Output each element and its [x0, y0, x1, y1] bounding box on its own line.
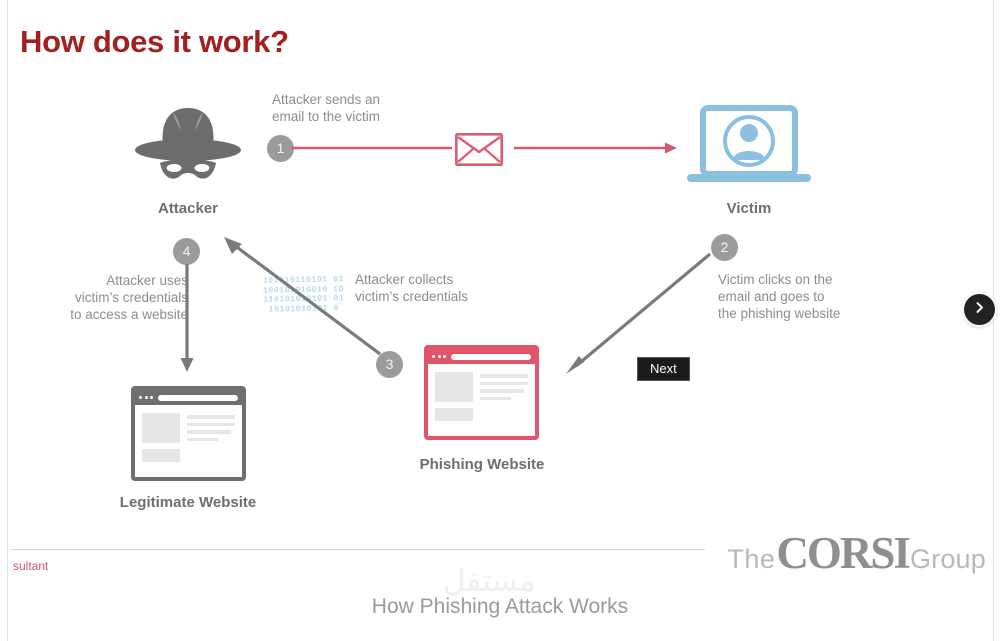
phishing-website-label: Phishing Website: [392, 456, 572, 473]
slide-caption: How Phishing Attack Works: [0, 595, 1000, 619]
step-1-text: Attacker sends an email to the victim: [272, 91, 492, 125]
next-button[interactable]: Next: [637, 357, 690, 381]
step-4-arrow: [178, 264, 196, 374]
logo-corsi: CORSI: [776, 527, 909, 579]
page-edge-left: [7, 0, 8, 641]
page-title: How does it work?: [20, 24, 289, 60]
legitimate-website-label: Legitimate Website: [98, 494, 278, 511]
next-slide-button[interactable]: [964, 294, 995, 325]
attacker-hat-mask-icon: [133, 100, 243, 192]
slide-canvas: How does it work? Attacker Victim: [0, 0, 1000, 641]
corsi-group-logo: The CORSI Group: [727, 527, 986, 571]
mostaql-watermark: مستقل: [443, 563, 536, 599]
step-1-badge: 1: [267, 135, 294, 162]
step-2-text: Victim clicks on the email and goes to t…: [718, 271, 933, 322]
step-3-arrow: [218, 232, 388, 360]
attacker-label: Attacker: [108, 200, 268, 217]
envelope-icon: [455, 133, 503, 166]
chevron-right-icon: [973, 301, 986, 319]
consultant-text: sultant: [13, 559, 48, 573]
logo-group: Group: [910, 544, 986, 575]
laptop-person-icon: [685, 104, 813, 190]
page-edge-right: [993, 0, 994, 641]
victim-label: Victim: [669, 200, 829, 217]
step-4-text: Attacker uses victim’s credentials to ac…: [58, 272, 188, 323]
phishing-website-icon: [424, 345, 539, 440]
legitimate-website-icon: [131, 386, 246, 481]
footer-divider: [11, 549, 705, 550]
logo-the: The: [727, 544, 775, 575]
step-4-badge: 4: [173, 238, 200, 265]
